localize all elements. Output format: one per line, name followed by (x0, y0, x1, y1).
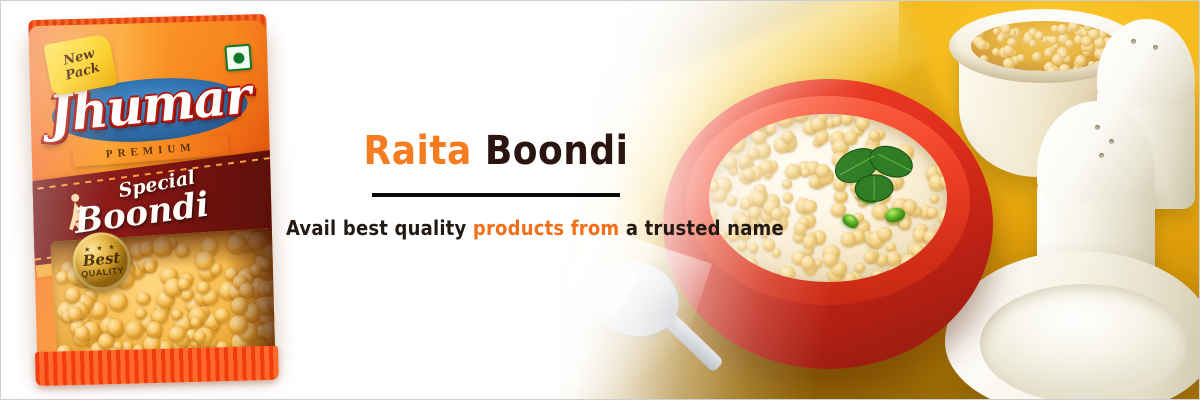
packet-body: Jhumar PREMIUM (28, 20, 275, 374)
headline-word-2: Boondi (485, 128, 629, 174)
subtitle-highlight: products from (473, 216, 619, 240)
packet-bottom-seal (35, 346, 279, 386)
jhumar-special-boondi-packet[interactable]: Jhumar PREMIUM (18, 6, 286, 391)
green-veg-mark-icon (224, 44, 252, 72)
packet-gloss-highlight (28, 20, 148, 374)
promo-copy: Raita Boondi Avail best quality products… (286, 129, 706, 240)
boondi-pearl (146, 321, 163, 338)
boondi-pearl (169, 325, 186, 342)
page-title: Raita Boondi (286, 129, 706, 173)
boondi-pearl (190, 317, 202, 329)
boondi-pearl (135, 307, 147, 319)
promo-banner: Jhumar PREMIUM (0, 0, 1200, 400)
subtitle-part-1: Avail best quality (286, 216, 466, 240)
headline-word-1: Raita (364, 128, 472, 174)
window-side-shadow (224, 228, 276, 355)
page-subtitle: Avail best quality products from a trust… (286, 216, 706, 240)
divider (372, 193, 620, 197)
subtitle-part-2: a trusted name (626, 216, 784, 240)
boondi-pearl (137, 291, 151, 305)
